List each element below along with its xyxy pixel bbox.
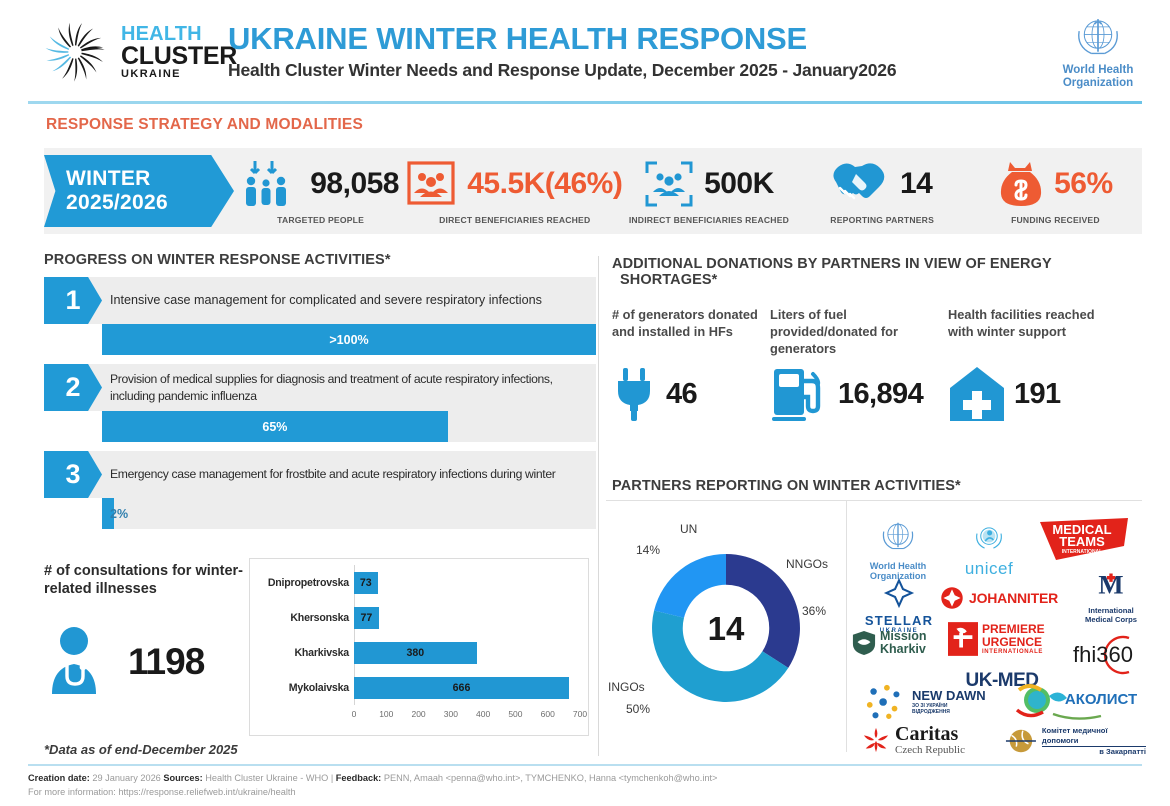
activity-item-1: 1 Intensive case management for complica…: [44, 277, 596, 355]
kpi-value: 56%: [1054, 167, 1113, 201]
axis-tick-label: 100: [379, 709, 393, 719]
section-title-progress: PROGRESS ON WINTER RESPONSE ACTIVITIES*: [44, 252, 596, 268]
kpi-value: 500K: [704, 167, 774, 201]
progress-section: PROGRESS ON WINTER RESPONSE ACTIVITIES* …: [44, 252, 596, 529]
bar-value-label: 666: [453, 682, 471, 694]
doctor-icon: [44, 624, 122, 700]
partners-donut-chart: 14 UN 14% NNGOs 36% INGOs 50%: [606, 500, 846, 752]
logo-who: World Health Organization: [852, 518, 944, 581]
kpi-reporting-partners: 14 REPORTING PARTNERS: [796, 148, 969, 234]
chart-bars-area: Dnipropetrovska73Khersonska77Kharkivska3…: [250, 565, 580, 705]
axis-tick-label: 0: [352, 709, 357, 719]
bar-wrap: 73: [354, 572, 580, 594]
kpi-label: DIRECT BENEFICIARIES REACHED: [439, 215, 590, 225]
donation-figure-facilities: 191: [948, 365, 1123, 423]
footer-sources-value: Health Cluster Ukraine - WHO |: [205, 773, 333, 783]
donut-label-ingos: INGOs: [608, 680, 645, 694]
bar-wrap: 666: [354, 677, 580, 699]
progress-bar-label: >100%: [329, 333, 368, 347]
header-divider: [28, 101, 1142, 104]
axis-tick-label: 300: [444, 709, 458, 719]
winter-season-chip: WINTER 2025/2026: [44, 155, 234, 227]
progress-bar-label: 2%: [110, 498, 128, 529]
bar-category-label: Khersonska: [250, 612, 354, 624]
logo-imc: M International Medical Corps: [1074, 570, 1148, 624]
bar-chart-row: Khersonska77: [250, 600, 580, 635]
donut-slice-nngos: [726, 554, 800, 668]
kpi-label: FUNDING RECEIVED: [1011, 215, 1100, 225]
consultations-bar-chart: Dnipropetrovska73Khersonska77Kharkivska3…: [249, 558, 589, 736]
new-dawn-mark-icon: [862, 682, 908, 722]
section-title-donations-l2: SHORTAGES*: [612, 272, 1142, 288]
footer-line-1: Creation date: 29 January 2026 Sources: …: [28, 772, 1142, 786]
imc-monogram-icon: M: [1086, 570, 1136, 602]
caritas-flame-icon: [862, 726, 890, 754]
logo-komitet: Комітет медичної допомоги в Закарпатті: [1004, 726, 1146, 757]
page-header: HEALTH CLUSTER UKRAINE UKRAINE WINTER HE…: [0, 0, 1170, 104]
donut-value-nngos: 36%: [802, 604, 826, 618]
donation-label-fuel: Liters of fuel provided/donated for gene…: [770, 306, 948, 357]
kpi-funding-received: 56% FUNDING RECEIVED: [969, 148, 1142, 234]
svg-text:TEAMS: TEAMS: [1059, 534, 1105, 549]
bar-value-label: 380: [406, 647, 424, 659]
donation-label-generators: # of generators donated and installed in…: [612, 306, 770, 357]
donation-value: 191: [1014, 378, 1061, 411]
activity-item-3: 3 Emergency case management for frostbit…: [44, 451, 596, 529]
logo-johanniter: JOHANNITER: [940, 586, 1088, 610]
activity-text: Intensive case management for complicate…: [102, 277, 596, 324]
donut-value-un: 14%: [636, 543, 660, 557]
bar-category-label: Dnipropetrovska: [250, 577, 354, 589]
data-note: *Data as of end-December 2025: [44, 742, 238, 757]
unicef-emblem-icon: [970, 522, 1008, 554]
logo-stellar-text: STELLAR: [854, 613, 944, 628]
activity-item-2: 2 Provision of medical supplies for diag…: [44, 364, 596, 442]
logo-new-dawn-text: NEW DAWN: [912, 689, 986, 703]
donation-value: 46: [666, 378, 697, 411]
bar-segment: 666: [354, 677, 569, 699]
who-emblem-icon: [877, 518, 919, 556]
bar-value-label: 73: [360, 577, 372, 589]
footer-divider: [28, 764, 1142, 766]
svg-text:fhi360: fhi360: [1073, 642, 1133, 667]
partner-logos-panel: World Health Organization unicef MEDICAL…: [852, 512, 1144, 756]
logo-new-dawn: NEW DAWN ЗО ЗІ УКРАЇНИВІДРОДЖЕННЯ: [862, 682, 1002, 722]
bar-chart-row: Kharkivska380: [250, 635, 580, 670]
premiere-urgence-mark-icon: [948, 622, 978, 656]
who-logo: World Health Organization: [1042, 14, 1170, 90]
handshake-icon: [832, 160, 890, 208]
progress-bar-track: 65%: [102, 411, 596, 442]
who-emblem-icon: [1072, 14, 1124, 62]
donation-value: 16,894: [838, 378, 923, 411]
spiral-logo-icon: [38, 15, 112, 89]
hospital-home-icon: [948, 365, 1006, 423]
logo-mission-kharkiv: Mission Kharkiv: [852, 630, 948, 656]
donut-slice-ingos: [652, 611, 788, 702]
bar-chart-row: Mykolaivska666: [250, 670, 580, 705]
donut-label-nngos: NNGOs: [786, 557, 828, 571]
activity-number: 3: [44, 451, 102, 498]
bar-chart-row: Dnipropetrovska73: [250, 565, 580, 600]
footer-more-info: For more information: https://response.r…: [28, 786, 1142, 800]
logo-unicef-text: unicef: [948, 559, 1030, 579]
logo-premiere-urgence: PREMIERE URGENCE INTERNATIONALE: [948, 622, 1076, 656]
axis-tick-label: 500: [508, 709, 522, 719]
money-bag-icon: [998, 159, 1044, 209]
kpi-indirect-beneficiaries: 500K INDIRECT BENEFICIARIES REACHED: [622, 148, 795, 234]
bar-category-label: Mykolaivska: [250, 682, 354, 694]
who-text-line2: Organization: [1042, 77, 1154, 90]
chart-x-axis: 0100200300400500600700: [354, 707, 580, 727]
progress-bar-track: 2%: [102, 498, 596, 529]
axis-tick-label: 200: [411, 709, 425, 719]
akolist-logo-icon: АКОЛИСТ: [1009, 682, 1139, 724]
kpi-label: TARGETED PEOPLE: [277, 215, 364, 225]
donations-section: ADDITIONAL DONATIONS BY PARTNERS IN VIEW…: [612, 256, 1142, 423]
svg-text:INTERNATIONAL: INTERNATIONAL: [1062, 549, 1102, 555]
logo-johanniter-text: JOHANNITER: [969, 590, 1058, 606]
donut-value-ingos: 50%: [626, 702, 650, 716]
people-scan-icon: [644, 160, 694, 208]
bar-wrap: 380: [354, 642, 580, 664]
bar-category-label: Kharkivska: [250, 647, 354, 659]
consultations-total: 1198: [128, 641, 204, 683]
mission-kharkiv-shield-icon: [852, 630, 876, 656]
kpi-label: INDIRECT BENEFICIARIES REACHED: [629, 215, 789, 225]
consultations-section: # of consultations for winter-related il…: [44, 558, 596, 736]
footer-creation-label: Creation date:: [28, 773, 90, 783]
logo-imc-text: International Medical Corps: [1074, 607, 1148, 624]
people-arrows-icon: [242, 159, 300, 209]
logo-caritas-text: Caritas: [895, 724, 965, 744]
kpi-direct-beneficiaries: 45.5K(46%) DIRECT BENEFICIARIES REACHED: [407, 148, 622, 234]
logo-caritas: Caritas Czech Republic: [862, 724, 1002, 756]
progress-bar-label: 65%: [262, 420, 287, 434]
partners-middle-divider: [846, 500, 847, 752]
bar-segment: 380: [354, 642, 477, 664]
logo-fhi360: fhi360: [1062, 632, 1148, 683]
winter-chip-line1: WINTER: [66, 167, 234, 191]
axis-tick-label: 700: [573, 709, 587, 719]
logo-akolist: АКОЛИСТ: [1004, 682, 1144, 729]
komitet-globe-icon: [1004, 726, 1038, 756]
title-block: UKRAINE WINTER HEALTH RESPONSE Health Cl…: [215, 23, 1042, 81]
who-text-line1: World Health: [1042, 64, 1154, 77]
kpi-value: 14: [900, 167, 932, 201]
people-box-icon: [407, 160, 457, 208]
winter-chip-line2: 2025/2026: [66, 191, 234, 215]
footer-creation-value: 29 January 2026: [92, 773, 160, 783]
footer-feedback-label: Feedback:: [336, 773, 381, 783]
progress-bar-fill: 65%: [102, 411, 448, 442]
section-title-donations-l1: ADDITIONAL DONATIONS BY PARTNERS IN VIEW…: [612, 256, 1142, 272]
svg-text:АКОЛИСТ: АКОЛИСТ: [1065, 691, 1137, 708]
progress-bar-track: >100%: [102, 324, 596, 355]
bar-segment: 73: [354, 572, 378, 594]
footer-feedback-value: PENN, Amaah <penna@who.int>, TYMCHENKO, …: [384, 773, 718, 783]
activity-number: 1: [44, 277, 102, 324]
stellar-star-icon: [883, 578, 915, 608]
bar-wrap: 77: [354, 607, 580, 629]
kpi-targeted-people: 98,058 TARGETED PEOPLE: [234, 148, 407, 234]
section-title-response-strategy: RESPONSE STRATEGY AND MODALITIES: [46, 116, 363, 134]
logo-stellar: STELLAR UKRAINE: [854, 578, 944, 634]
activity-text: Provision of medical supplies for diagno…: [102, 364, 596, 411]
kpi-label: REPORTING PARTNERS: [830, 215, 934, 225]
axis-tick-label: 400: [476, 709, 490, 719]
health-cluster-logo: HEALTH CLUSTER UKRAINE: [0, 2, 215, 102]
fhi360-logo-icon: fhi360: [1063, 632, 1147, 678]
kpi-value: 45.5K(46%): [467, 167, 622, 201]
column-divider: [598, 256, 599, 756]
page-footer: Creation date: 29 January 2026 Sources: …: [28, 764, 1142, 800]
donation-figure-generators: 46: [612, 366, 770, 422]
axis-tick-label: 600: [541, 709, 555, 719]
logo-unicef: unicef: [948, 522, 1030, 579]
medical-teams-logo-icon: MEDICAL TEAMS INTERNATIONAL: [1036, 516, 1132, 562]
plug-icon: [612, 366, 658, 422]
footer-sources-label: Sources:: [163, 773, 202, 783]
donation-figure-fuel: 16,894: [770, 365, 948, 423]
logo-medical-teams: MEDICAL TEAMS INTERNATIONAL: [1034, 516, 1134, 567]
consultations-title: # of consultations for winter-related il…: [44, 562, 249, 598]
fuel-pump-icon: [770, 365, 830, 423]
kpi-value: 98,058: [310, 167, 399, 201]
activity-text: Emergency case management for frostbite …: [102, 451, 596, 498]
donut-label-un: UN: [680, 522, 697, 536]
page-subtitle: Health Cluster Winter Needs and Response…: [228, 60, 1042, 81]
page-title: UKRAINE WINTER HEALTH RESPONSE: [228, 23, 1042, 56]
bar-value-label: 77: [361, 612, 373, 624]
bar-segment: 77: [354, 607, 379, 629]
activity-number: 2: [44, 364, 102, 411]
progress-bar-fill: >100%: [102, 324, 596, 355]
johanniter-cross-icon: [940, 586, 964, 610]
donut-slice-un: [654, 554, 726, 618]
section-title-partners: PARTNERS REPORTING ON WINTER ACTIVITIES*: [612, 478, 961, 494]
donation-label-facilities: Health facilities reached with winter su…: [948, 306, 1123, 357]
kpi-strip: WINTER 2025/2026 98,058 TARGETED PEOPLE: [44, 148, 1142, 234]
